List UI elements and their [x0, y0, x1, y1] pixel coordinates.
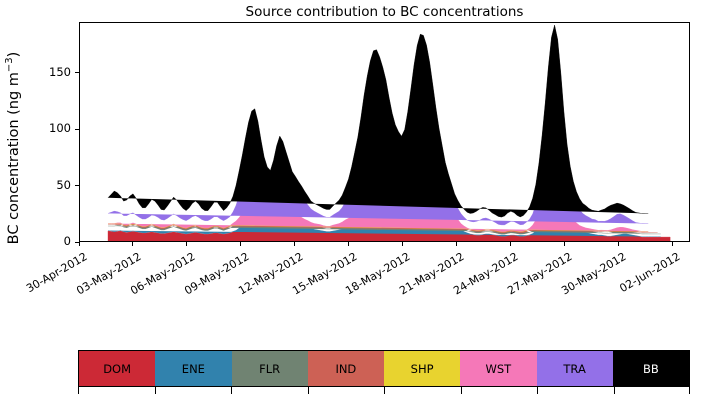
- plot-clip: [80, 23, 689, 241]
- x-tick-mark: [510, 242, 511, 246]
- x-tick-mark: [618, 242, 619, 246]
- y-tick-label: 100: [33, 121, 71, 135]
- x-tick-mark: [186, 242, 187, 246]
- x-tick-mark: [564, 242, 565, 246]
- legend-item-dom[interactable]: DOM: [79, 351, 155, 386]
- x-tick-mark: [79, 242, 80, 246]
- y-tick-mark: [75, 72, 79, 73]
- legend-item-bb[interactable]: BB: [613, 351, 689, 386]
- y-tick-label: 150: [33, 65, 71, 79]
- stacked-area-svg: [80, 23, 689, 241]
- y-tick-mark: [75, 129, 79, 130]
- legend-tick-mark: [689, 387, 690, 394]
- x-tick-mark: [294, 242, 295, 246]
- legend-item-ind[interactable]: IND: [308, 351, 384, 386]
- x-tick-mark: [132, 242, 133, 246]
- legend: DOMENEFLRINDSHPWSTTRABB: [78, 350, 690, 387]
- x-tick-mark: [402, 242, 403, 246]
- y-tick-label: 50: [33, 178, 71, 192]
- legend-item-ene[interactable]: ENE: [155, 351, 231, 386]
- x-tick-mark: [240, 242, 241, 246]
- legend-axis-ticks: [78, 387, 690, 395]
- legend-tick-mark: [537, 387, 538, 394]
- x-tick-mark: [348, 242, 349, 246]
- legend-tick-mark: [231, 387, 232, 394]
- area-series-bb: [108, 25, 648, 217]
- legend-tick-mark: [308, 387, 309, 394]
- x-tick-mark: [456, 242, 457, 246]
- legend-tick-mark: [155, 387, 156, 394]
- y-axis-label-exponent: −3: [4, 57, 15, 72]
- legend-tick-mark: [78, 387, 79, 394]
- legend-tick-mark: [614, 387, 615, 394]
- legend-tick-mark: [461, 387, 462, 394]
- legend-item-flr[interactable]: FLR: [232, 351, 308, 386]
- x-tick-mark: [672, 242, 673, 246]
- chart-root: Source contribution to BC concentrations…: [0, 0, 711, 402]
- y-axis-label: BC concentration (ng m−3): [0, 25, 26, 270]
- legend-tick-mark: [384, 387, 385, 394]
- y-axis-label-close: ): [6, 51, 22, 57]
- chart-title: Source contribution to BC concentrations: [79, 4, 690, 20]
- legend-item-shp[interactable]: SHP: [384, 351, 460, 386]
- legend-item-tra[interactable]: TRA: [537, 351, 613, 386]
- y-tick-label: 0: [33, 234, 71, 248]
- y-tick-mark: [75, 185, 79, 186]
- legend-item-wst[interactable]: WST: [460, 351, 536, 386]
- y-axis-label-main: BC concentration (ng m: [6, 72, 22, 244]
- plot-area: [79, 22, 690, 242]
